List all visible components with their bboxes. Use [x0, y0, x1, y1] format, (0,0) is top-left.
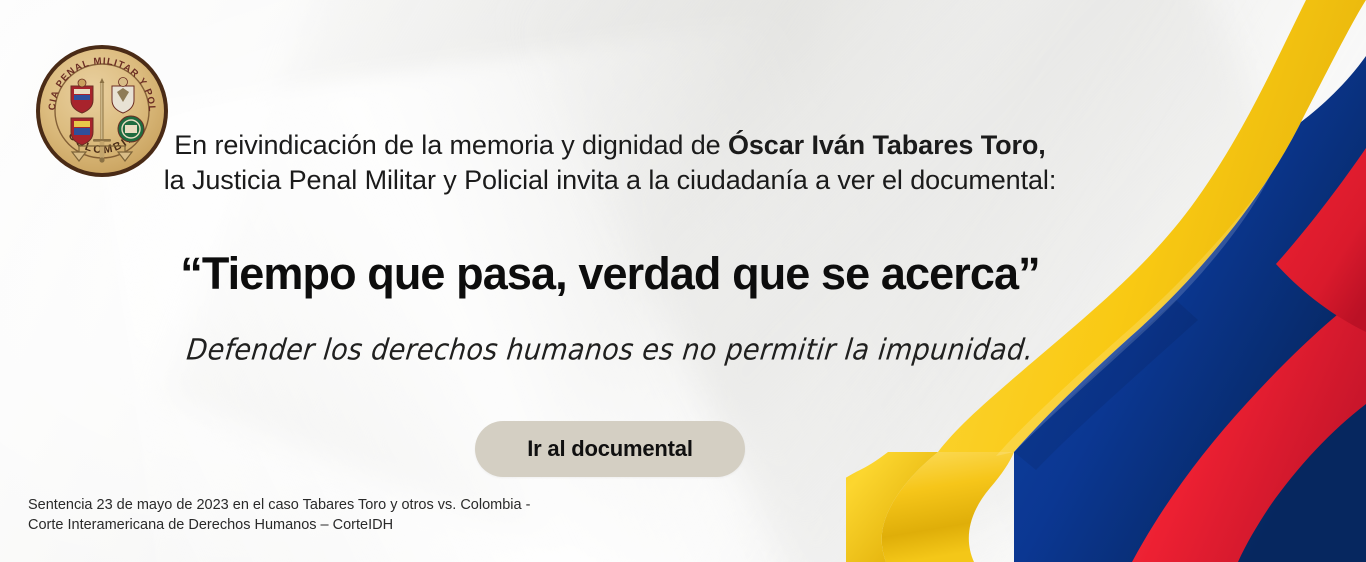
lede-paragraph: En reivindicación de la memoria y dignid… [140, 128, 1080, 197]
footnote-line-1: Sentencia 23 de mayo de 2023 en el caso … [28, 495, 668, 516]
source-footnote: Sentencia 23 de mayo de 2023 en el caso … [28, 495, 668, 536]
banner-root: JUSTICIA PENAL MILITAR Y POLICIAL COLOMB… [0, 0, 1366, 562]
lede-line1-prefix: En reivindicación de la memoria y dignid… [174, 130, 728, 160]
tagline-handwritten: Defender los derechos humanos es no perm… [138, 334, 1082, 369]
lede-line2: la Justicia Penal Militar y Policial inv… [164, 165, 1056, 195]
honoree-name: Óscar Iván Tabares Toro, [728, 130, 1046, 160]
footnote-line-2: Corte Interamericana de Derechos Humanos… [28, 515, 668, 536]
cta-container: Ir al documental [140, 421, 1080, 477]
go-to-documentary-button[interactable]: Ir al documental [475, 421, 745, 477]
documentary-title: “Tiempo que pasa, verdad que se acerca” [140, 249, 1080, 299]
seal-coat-of-arms-airforce [71, 118, 93, 145]
copy-block: En reivindicación de la memoria y dignid… [140, 128, 1080, 368]
